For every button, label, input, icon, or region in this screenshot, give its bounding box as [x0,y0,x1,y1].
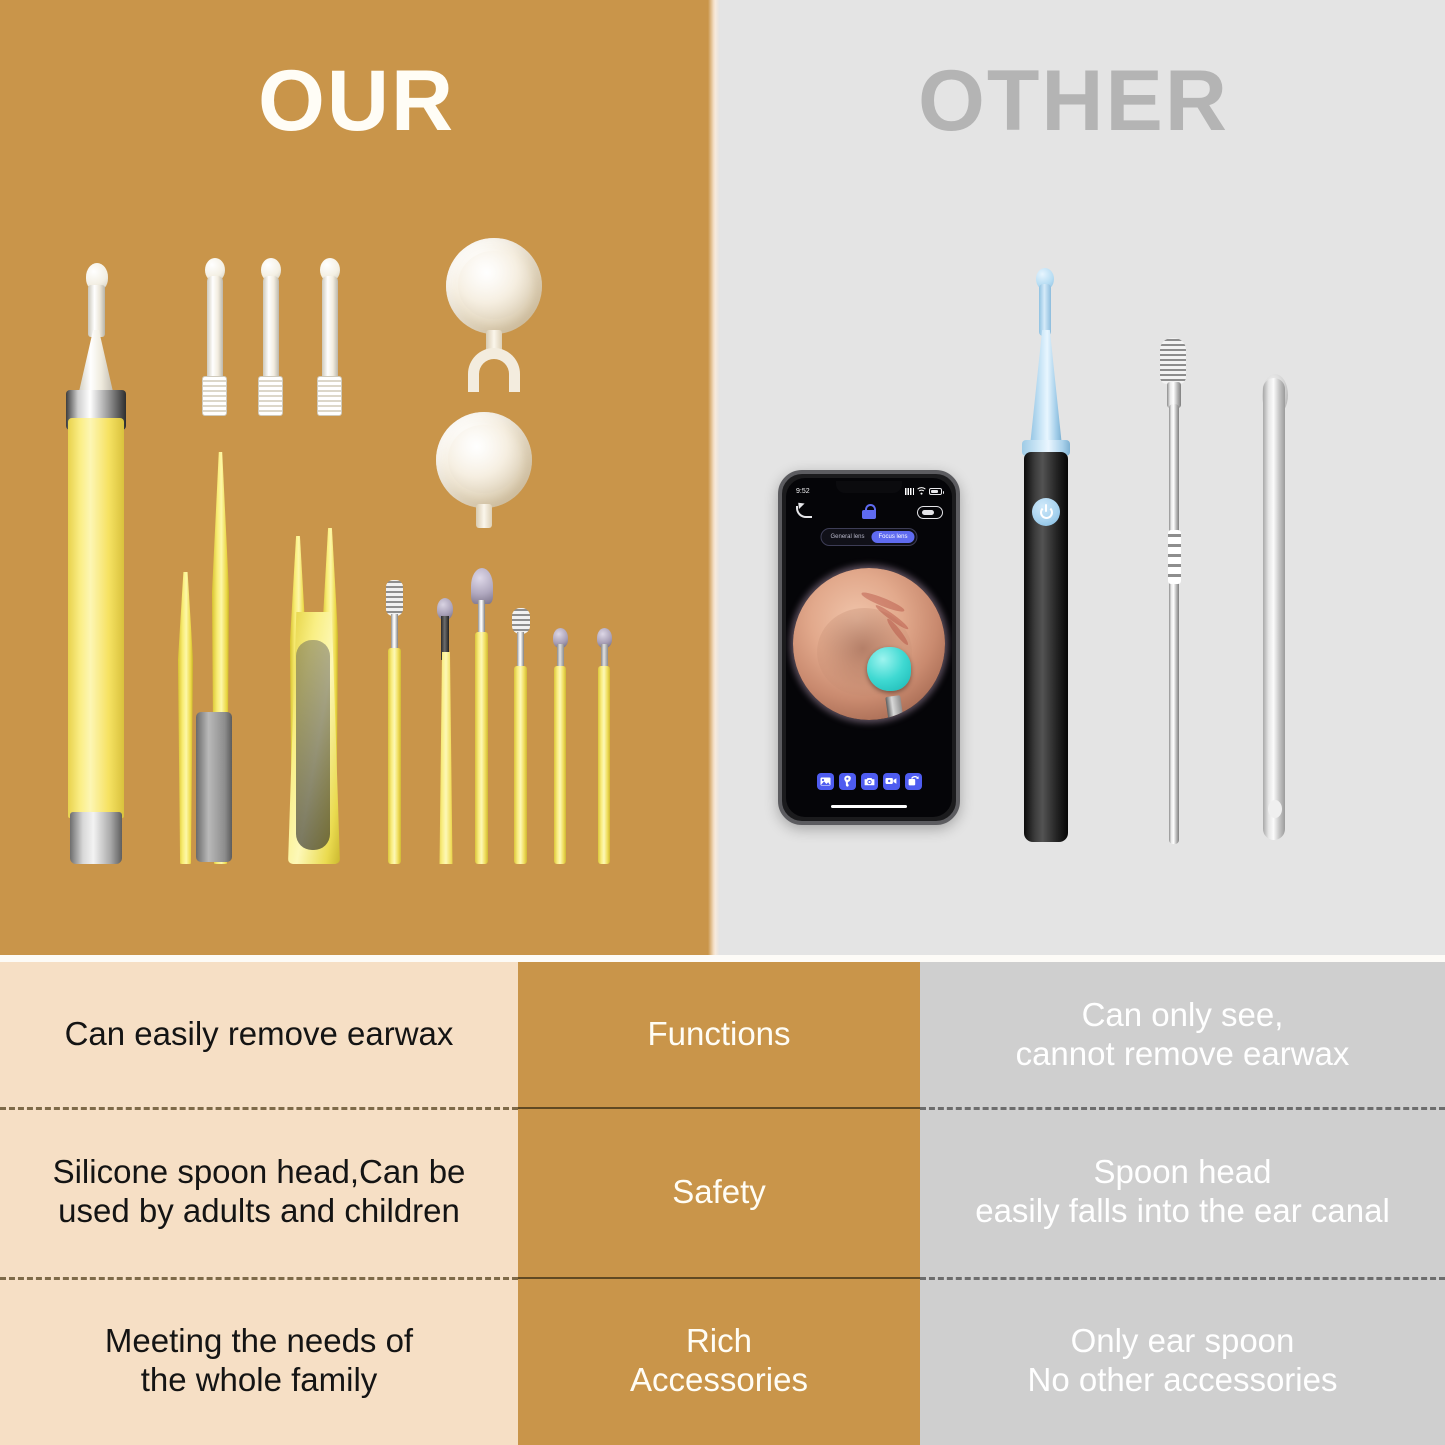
spiral-head [1160,338,1186,384]
replacement-tip-base-3 [317,376,342,416]
status-time: 9:52 [796,488,810,495]
pen-yellow-body [68,418,124,818]
lock-icon[interactable] [862,504,876,519]
lens-mode-toggle[interactable]: General lens Focus lens [820,528,917,546]
cell-other-0: Can only see,cannot remove earwax [1016,996,1350,1074]
lock-body [862,510,876,519]
back-arrow-icon[interactable] [796,506,812,518]
phone-screen[interactable]: 9:52 [786,478,952,817]
pick4-spiral-head [512,608,530,634]
silicone-cap-fork [468,348,520,392]
divider-segment-middle [518,1107,920,1109]
pen-metal-base [70,812,122,864]
tweezer-grip-1 [196,712,232,862]
pick4-neck [517,632,524,670]
table-row: Meeting the needs ofthe whole family [0,1277,518,1445]
divider-segment-left [0,1277,518,1280]
our-panel-title: OUR [258,52,455,151]
video-icon[interactable] [883,773,900,790]
capsule-icon[interactable] [917,506,943,519]
cell-our-0: Can easily remove earwax [65,1015,454,1054]
replacement-tip-stem-1 [207,276,223,384]
pick1-spiral-head [386,580,403,616]
cell-our-1: Silicone spoon head,Can beused by adults… [53,1153,466,1231]
pick5-shaft [554,666,566,864]
spoon-hanging-hole [1268,800,1282,818]
ear-icon[interactable] [839,773,856,790]
smartphone-otoscope[interactable]: 9:52 [778,470,960,825]
otoscope-tip-stem [1039,284,1051,336]
wifi-icon [917,487,926,495]
replacement-tip-base-1 [202,376,227,416]
table-row: RichAccessories [518,1277,920,1445]
power-icon [1040,506,1053,519]
table-row: Safety [518,1107,920,1277]
cell-feature-2: RichAccessories [630,1322,808,1400]
table-row: Only ear spoonNo other accessories [920,1277,1445,1445]
phone-status-bar: 9:52 [786,485,952,497]
table-row: Spoon headeasily falls into the ear cana… [920,1107,1445,1277]
silicone-cap-neck-2 [476,504,492,528]
cell-other-2: Only ear spoonNo other accessories [1028,1322,1338,1400]
signal-bars-icon [905,488,914,495]
divider-segment-middle [518,1277,920,1279]
status-indicators [905,487,942,495]
battery-icon [929,488,942,495]
table-row: Can easily remove earwax [0,962,518,1107]
app-topbar [786,504,952,526]
divider-segment-right [920,1277,1445,1280]
table-row: Silicone spoon head,Can beused by adults… [0,1107,518,1277]
pick1-shaft [388,648,401,864]
tweezer2-window [296,640,330,850]
replacement-tip-stem-3 [322,276,338,384]
comparison-table: Can easily remove earwax Functions Can o… [0,962,1445,1445]
pick3-brush-head [471,568,493,604]
panel-divider [708,0,720,955]
pick6-shaft [598,666,610,864]
cell-our-2: Meeting the needs ofthe whole family [105,1322,413,1400]
ear-canal-endoscope-view [793,568,945,720]
rotate-icon[interactable] [905,773,922,790]
lens-option-general[interactable]: General lens [823,531,871,543]
gallery-icon[interactable] [817,773,834,790]
home-indicator [831,805,907,808]
replacement-tip-stem-2 [263,276,279,384]
pick1-neck [391,614,398,652]
probe-silicone-tip [867,647,911,691]
app-toolbar[interactable] [786,771,952,791]
divider-segment-left [0,1107,518,1110]
pen-tip-stem [88,285,105,337]
pick4-shaft [514,666,527,864]
divider-segment-right [920,1107,1445,1110]
probe-metal-neck [885,695,903,720]
table-row: Functions [518,962,920,1107]
product-comparison-infographic: OUR OTHER [0,0,1445,1445]
cell-feature-1: Safety [672,1173,766,1212]
product-showcase: OUR OTHER [0,0,1445,955]
cell-feature-0: Functions [647,1015,790,1054]
pick3-shaft [475,632,488,864]
silicone-cap-2 [436,412,532,508]
lens-option-focus[interactable]: Focus lens [872,531,915,543]
silicone-cap-1 [446,238,542,334]
cell-other-1: Spoon headeasily falls into the ear cana… [975,1153,1390,1231]
table-row: Can only see,cannot remove earwax [920,962,1445,1107]
spiral-grip-rings [1168,530,1181,584]
replacement-tip-base-2 [258,376,283,416]
camera-icon[interactable] [861,773,878,790]
spiral-shaft [1169,404,1179,844]
spoon-handle [1263,378,1285,840]
other-panel-title: OTHER [918,52,1229,151]
power-button[interactable] [1032,498,1060,526]
